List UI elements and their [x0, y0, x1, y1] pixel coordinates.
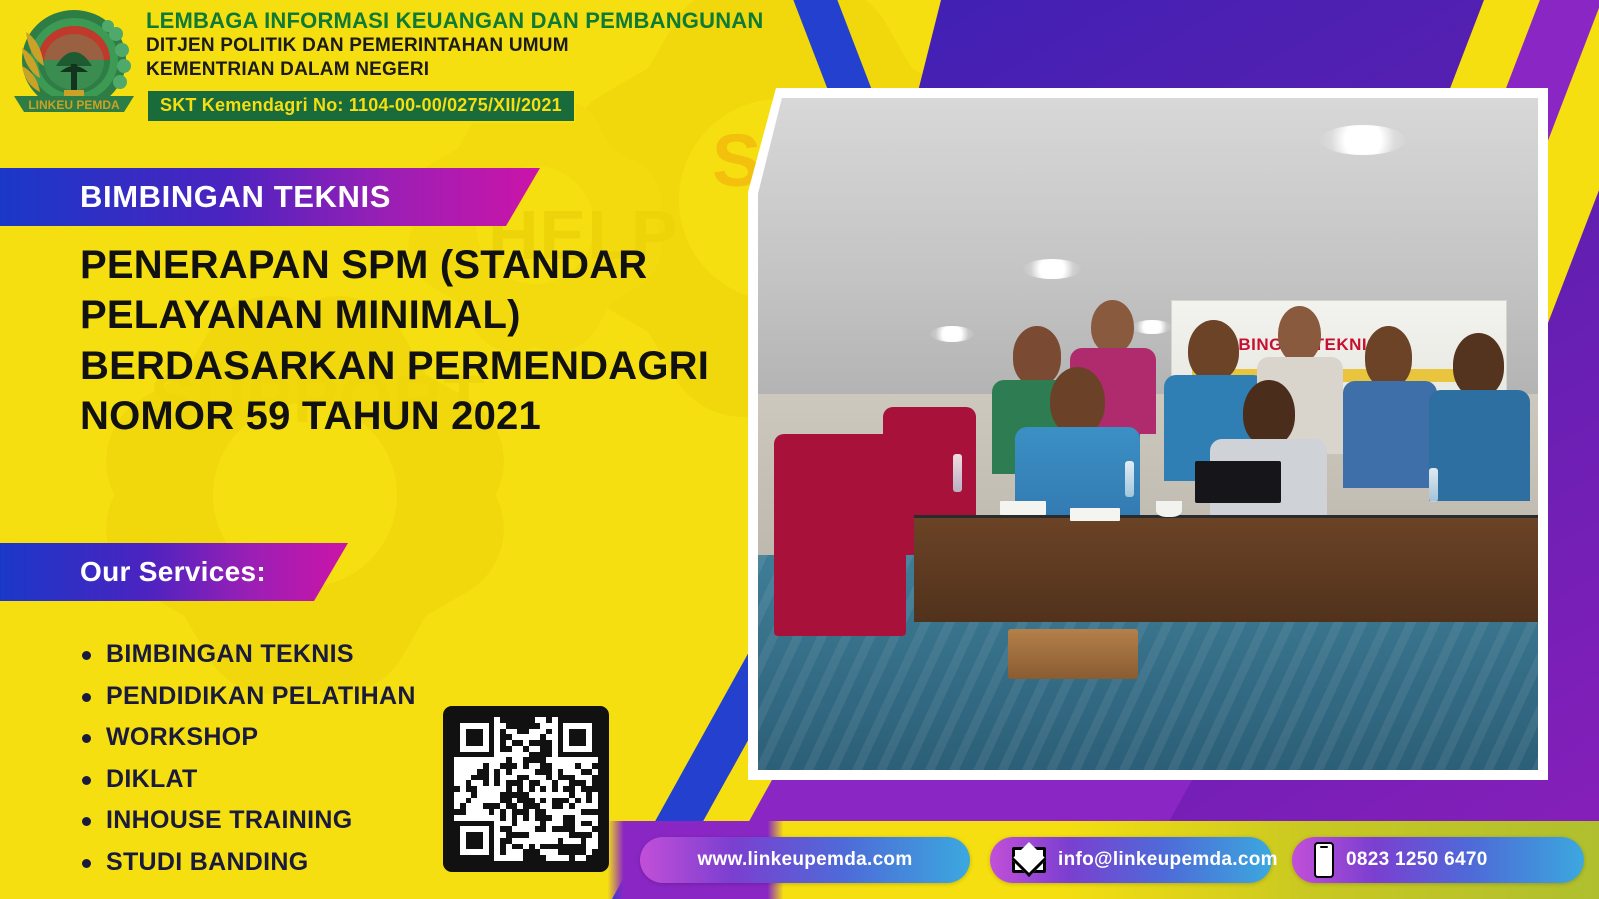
- attendee: [1343, 326, 1437, 487]
- org-line-2: DITJEN POLITIK DAN PEMERINTAHAN UMUM: [146, 34, 763, 58]
- list-item: DIKLAT: [78, 765, 416, 794]
- mobile-phone-icon: [1314, 842, 1334, 878]
- envelope-icon: [1012, 847, 1046, 873]
- contact-footer: www.linkeupemda.com info@linkeupemda.com…: [0, 821, 1599, 899]
- website-label: www.linkeupemda.com: [697, 849, 912, 871]
- seminar-photo-frame: BIMBINGAN TEKNIS: [748, 88, 1548, 780]
- promotional-poster: SERVICE HELP SUPPORT BIMBINGAN TEKNIS: [0, 0, 1599, 899]
- skt-license-badge: SKT Kemendagri No: 1104-00-00/0275/XII/2…: [146, 89, 576, 123]
- ceiling-light: [1320, 125, 1406, 155]
- organization-text: LEMBAGA INFORMASI KEUANGAN DAN PEMBANGUN…: [146, 8, 763, 123]
- category-ribbon: BIMBINGAN TEKNIS: [0, 168, 540, 226]
- org-line-1: LEMBAGA INFORMASI KEUANGAN DAN PEMBANGUN…: [146, 8, 763, 34]
- water-bottle: [1429, 468, 1438, 502]
- laptop: [1195, 461, 1281, 503]
- coffee-cup: [1156, 501, 1182, 517]
- services-heading-ribbon: Our Services:: [0, 543, 348, 601]
- category-label: BIMBINGAN TEKNIS: [80, 179, 391, 215]
- phone-label: 0823 1250 6470: [1346, 849, 1488, 871]
- svg-text:LINKEU PEMDA: LINKEU PEMDA: [28, 98, 120, 112]
- paper-sheet: [1070, 508, 1120, 521]
- list-item: BIMBINGAN TEKNIS: [78, 640, 416, 669]
- seminar-photo: BIMBINGAN TEKNIS: [758, 98, 1538, 770]
- conference-table: [914, 515, 1538, 623]
- list-item: WORKSHOP: [78, 723, 416, 752]
- org-line-3: KEMENTRIAN DALAM NEGERI: [146, 58, 763, 82]
- page-title: PENERAPAN SPM (STANDAR PELAYANAN MINIMAL…: [80, 240, 780, 442]
- kemendagri-logo: LINKEU PEMDA: [8, 4, 140, 126]
- phone-pill[interactable]: 0823 1250 6470: [1292, 837, 1584, 883]
- email-pill[interactable]: info@linkeupemda.com: [990, 837, 1272, 883]
- email-label: info@linkeupemda.com: [1058, 849, 1278, 871]
- paper-sheet: [1000, 501, 1046, 515]
- list-item: PENDIDIKAN PELATIHAN: [78, 682, 416, 711]
- website-pill[interactable]: www.linkeupemda.com: [640, 837, 970, 883]
- attendee: [1429, 333, 1530, 501]
- side-table: [1008, 629, 1138, 679]
- water-bottle: [953, 454, 962, 492]
- services-heading-label: Our Services:: [80, 556, 266, 588]
- water-bottle: [1125, 461, 1134, 497]
